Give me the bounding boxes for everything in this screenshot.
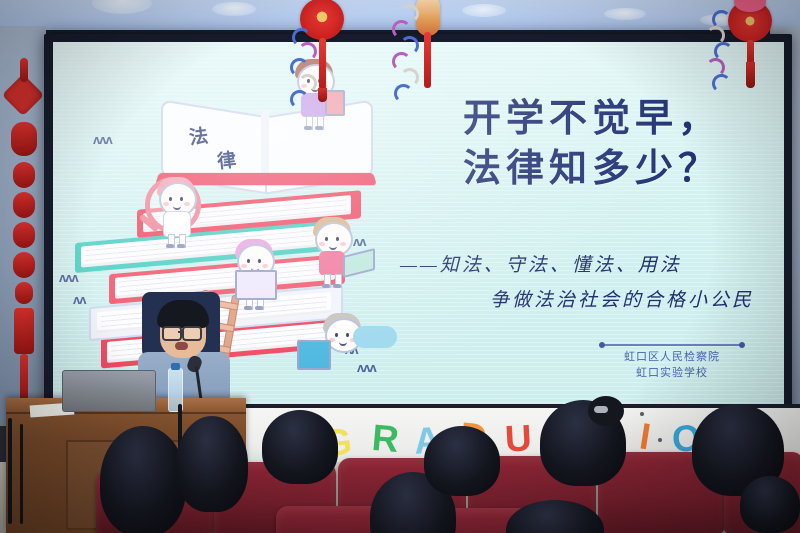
- wall-dot: [658, 438, 662, 442]
- slide-subtitle-line2: 争做法治社会的合格小公民: [396, 283, 768, 318]
- graduation-letter-U: U: [504, 419, 533, 457]
- audience-head: [176, 416, 248, 512]
- streamer-ribbon: [392, 4, 422, 104]
- ceiling-light: [462, 4, 506, 17]
- mini-book: [235, 270, 277, 300]
- streamer-ribbon: [288, 28, 318, 118]
- audience-head: [100, 426, 186, 533]
- slide-subtitle: ——知法、守法、懂法、用法 争做法治社会的合格小公民: [396, 248, 768, 318]
- streamer-ribbon: [706, 10, 736, 106]
- slide-subtitle-line1: ——知法、守法、懂法、用法: [396, 248, 768, 283]
- credit-divider: [602, 344, 742, 346]
- eyeglasses-left-lens: [162, 326, 182, 341]
- ceiling-light: [604, 8, 646, 20]
- cable: [20, 424, 23, 524]
- eyeglasses-bridge: [178, 331, 184, 333]
- chinese-knot-decoration: [6, 58, 42, 388]
- book-character-fa: 法: [187, 121, 209, 150]
- hair-clip: [594, 406, 608, 413]
- doodle-zigzag: ʌʌʌ: [93, 132, 112, 147]
- ceiling-light: [212, 2, 256, 16]
- slide-credit: 虹口区人民检察院 虹口实验学校: [602, 350, 742, 382]
- eyeglasses-right-lens: [182, 326, 202, 341]
- slide-title-line2: 法律知多少？: [422, 144, 762, 194]
- tablet-prop: [343, 248, 375, 278]
- speaker-hair: [157, 300, 209, 328]
- screenshot-root: ʌʌʌ ʌʌ ʌʌʌ ʌʌ ʌʌ ʌʌʌ 法: [0, 0, 800, 533]
- credit-line1: 虹口区人民检察院: [602, 350, 742, 366]
- open-book-top: 法 律: [161, 108, 371, 190]
- doodle-zigzag: ʌʌ: [73, 292, 85, 307]
- audience-head: [262, 410, 338, 484]
- audience-head: [740, 476, 800, 533]
- graduation-letter-R: R: [370, 419, 400, 458]
- doodle-zigzag: ʌʌʌ: [59, 270, 78, 285]
- doodle-zigzag: ʌʌʌ: [357, 360, 376, 375]
- laptop-on-podium: [62, 370, 154, 416]
- slide-title: 开学不觉早， 法律知多少？: [422, 94, 762, 194]
- blue-notebook: [297, 340, 331, 370]
- book-character-lv: 律: [215, 145, 237, 174]
- doodle-zigzag: ʌʌ: [353, 234, 365, 249]
- speaker-mouth: [175, 342, 188, 350]
- cable: [8, 418, 12, 524]
- audience-head: [424, 426, 500, 496]
- credit-line2: 虹口实验学校: [602, 366, 742, 382]
